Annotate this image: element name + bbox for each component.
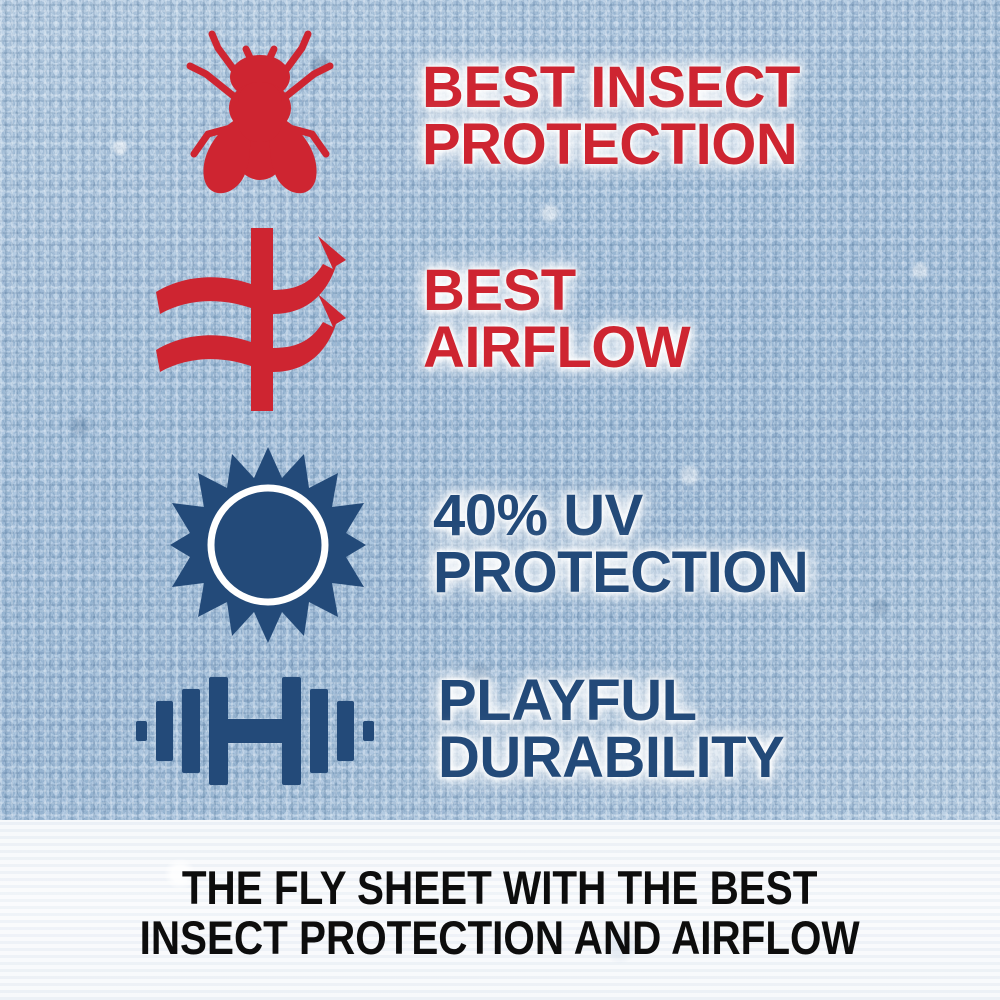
feature-row-durability: PLAYFUL DURABILITY	[130, 650, 980, 810]
feature-label-airflow: BEST AIRFLOW	[423, 263, 980, 377]
feature-label-insect-protection: BEST INSECT PROTECTION	[422, 60, 980, 174]
product-feature-infographic: BEST INSECT PROTECTION BEST AIRFLOW	[0, 0, 1000, 1000]
feature-row-insect-protection: BEST INSECT PROTECTION	[160, 22, 980, 212]
feature-row-uv-protection: 40% UV PROTECTION	[160, 440, 980, 650]
feature-panel: BEST INSECT PROTECTION BEST AIRFLOW	[0, 0, 1000, 820]
feature-label-durability: PLAYFUL DURABILITY	[438, 673, 980, 787]
dumbbell-icon	[130, 655, 380, 805]
caption-band: THE FLY SHEET WITH THE BEST INSECT PROTE…	[0, 820, 1000, 1000]
sun-burst-icon	[160, 440, 375, 650]
caption-headline: THE FLY SHEET WITH THE BEST INSECT PROTE…	[140, 857, 860, 963]
feature-label-uv-protection: 40% UV PROTECTION	[433, 488, 980, 602]
airflow-arrows-icon	[150, 222, 375, 417]
fly-icon	[160, 22, 360, 212]
feature-row-airflow: BEST AIRFLOW	[150, 222, 980, 417]
